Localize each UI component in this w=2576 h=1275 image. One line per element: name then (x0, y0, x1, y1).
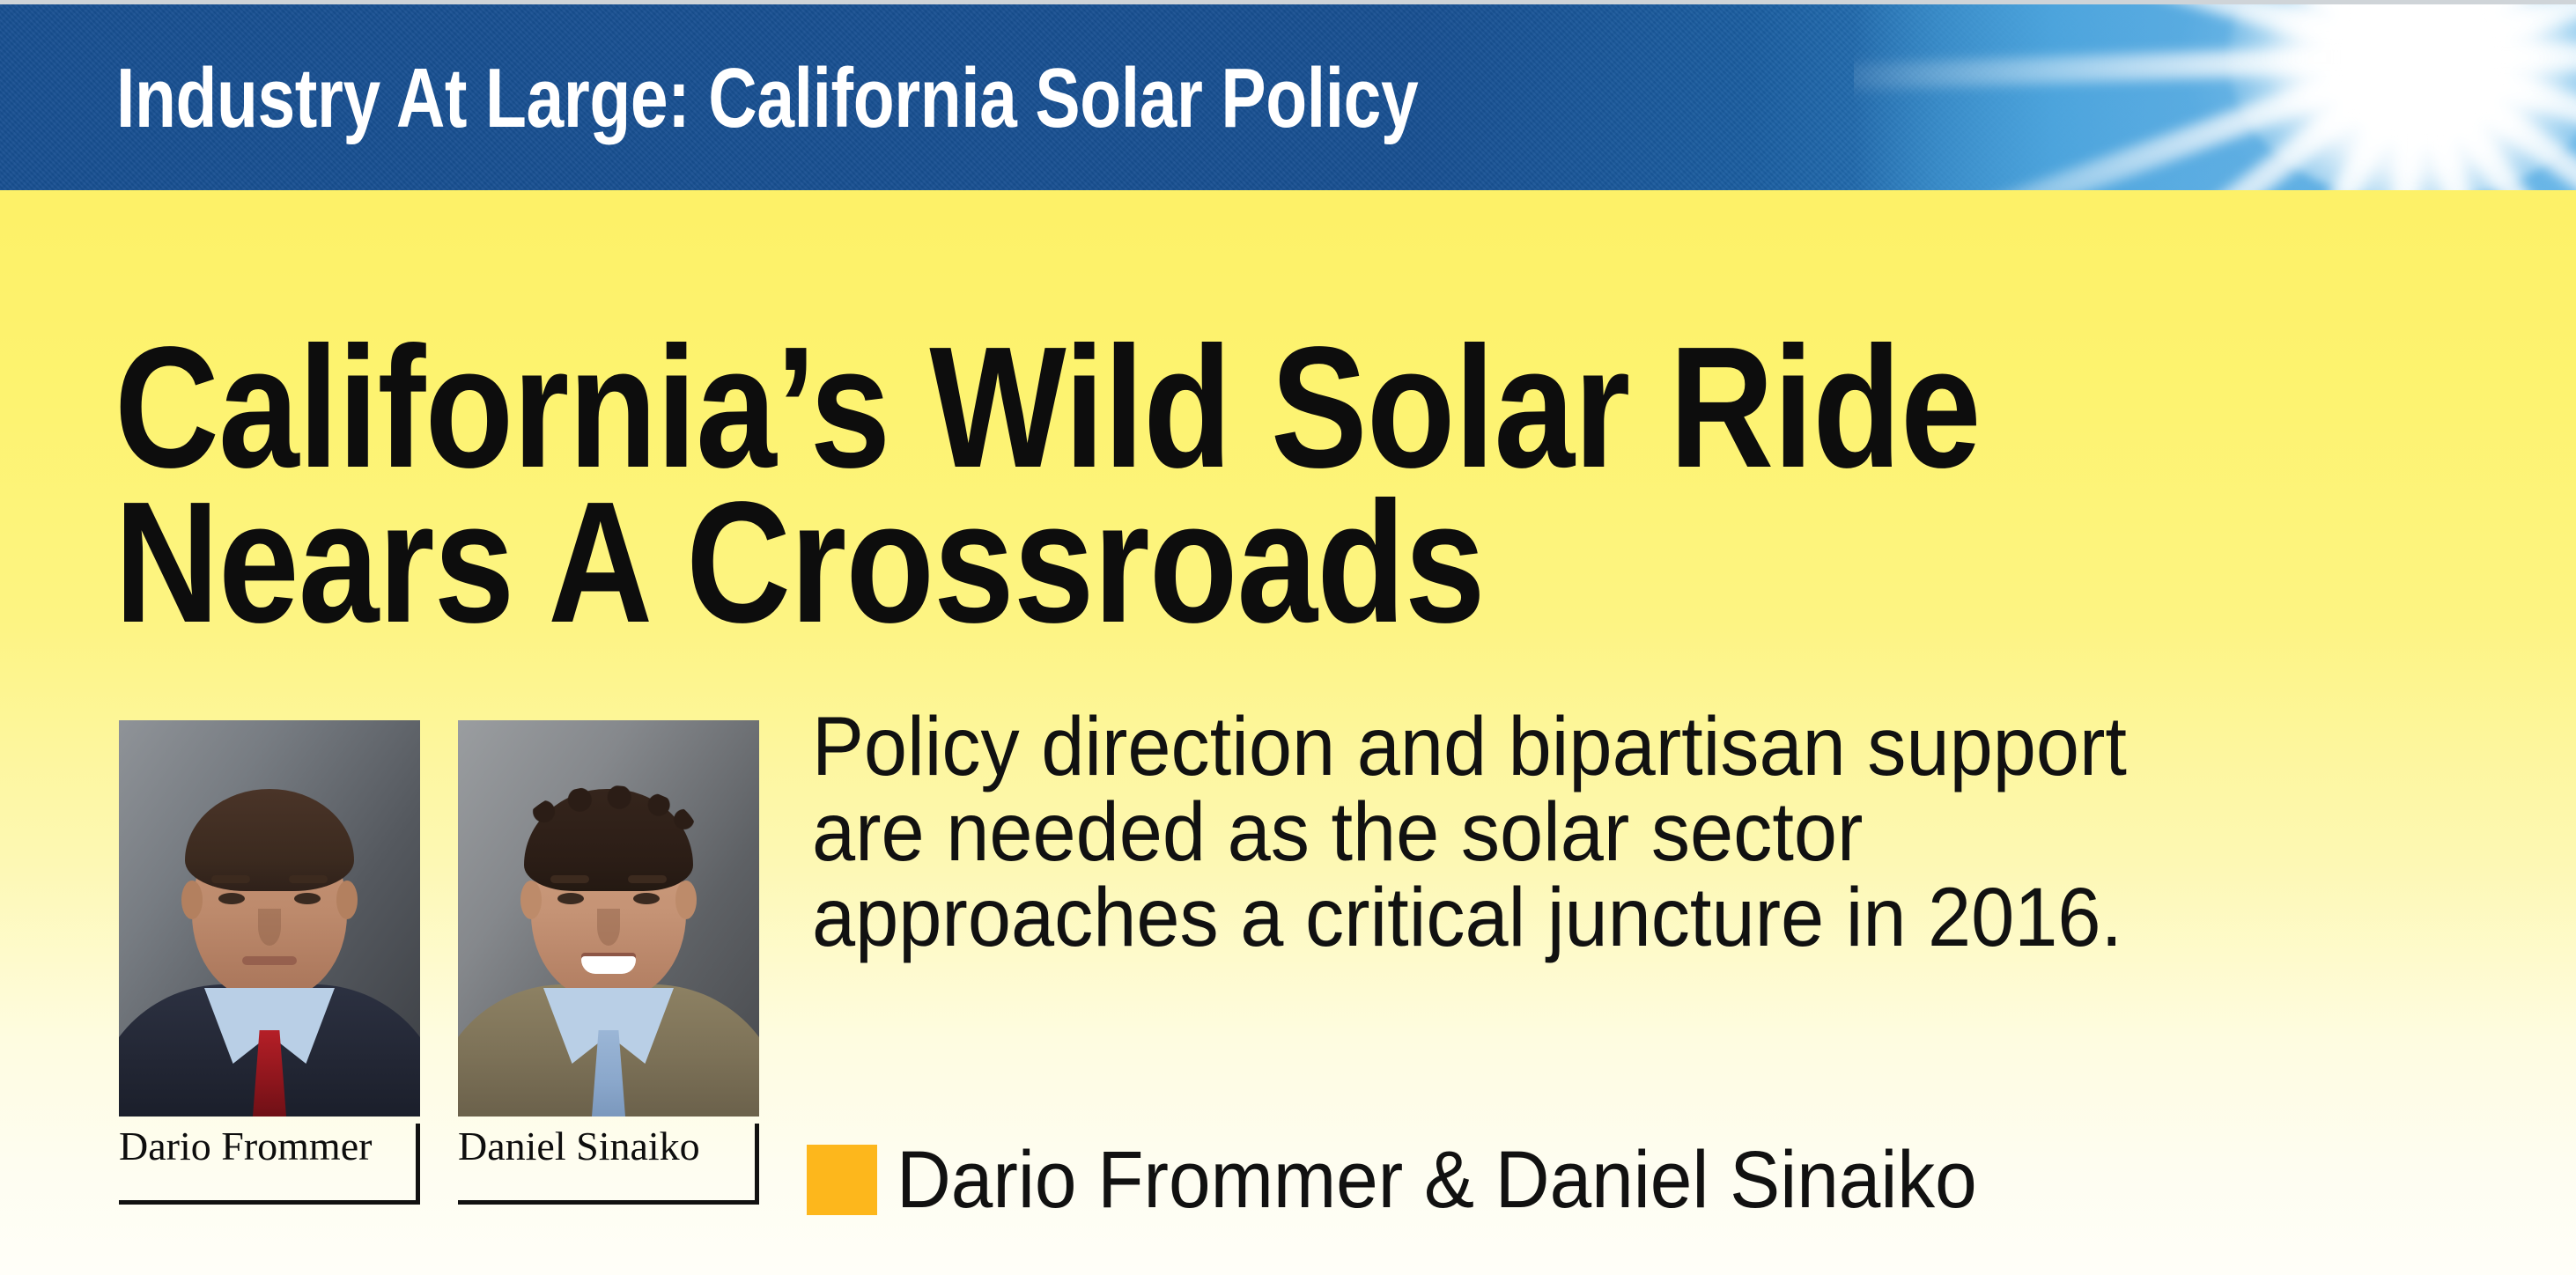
author-caption-rule: Dario Frommer (119, 1124, 420, 1205)
sunburst-icon (1854, 4, 2576, 190)
avatar (458, 720, 759, 1117)
page-title: California’s Wild Solar Ride Nears A Cro… (114, 330, 1964, 640)
byline-authors-label: Dario Frommer & Daniel Sinaiko (897, 1139, 1977, 1220)
author-block-daniel-sinaiko: Daniel Sinaiko (458, 720, 759, 1205)
article-deck: Policy direction and bipartisan support … (812, 704, 2417, 961)
headline-line-2: Nears A Crossroads (114, 485, 1964, 640)
byline-swatch-icon (807, 1145, 877, 1215)
author-block-dario-frommer: Dario Frommer (119, 720, 420, 1205)
article-header-page: Industry At Large: California Solar Poli… (0, 0, 2576, 1275)
deck-line-3: approaches a critical juncture in 2016. (812, 875, 2417, 961)
section-banner: Industry At Large: California Solar Poli… (0, 4, 2576, 190)
author-caption-rule: Daniel Sinaiko (458, 1124, 759, 1205)
avatar (119, 720, 420, 1117)
byline: Dario Frommer & Daniel Sinaiko (807, 1139, 2058, 1220)
banner-title: Industry At Large: California Solar Poli… (116, 15, 1418, 182)
author-name-label: Daniel Sinaiko (458, 1122, 700, 1171)
author-name-label: Dario Frommer (119, 1122, 372, 1171)
deck-line-1: Policy direction and bipartisan support (812, 704, 2417, 790)
deck-line-2: are needed as the solar sector (812, 790, 2417, 875)
headline-line-1: California’s Wild Solar Ride (114, 330, 1964, 485)
